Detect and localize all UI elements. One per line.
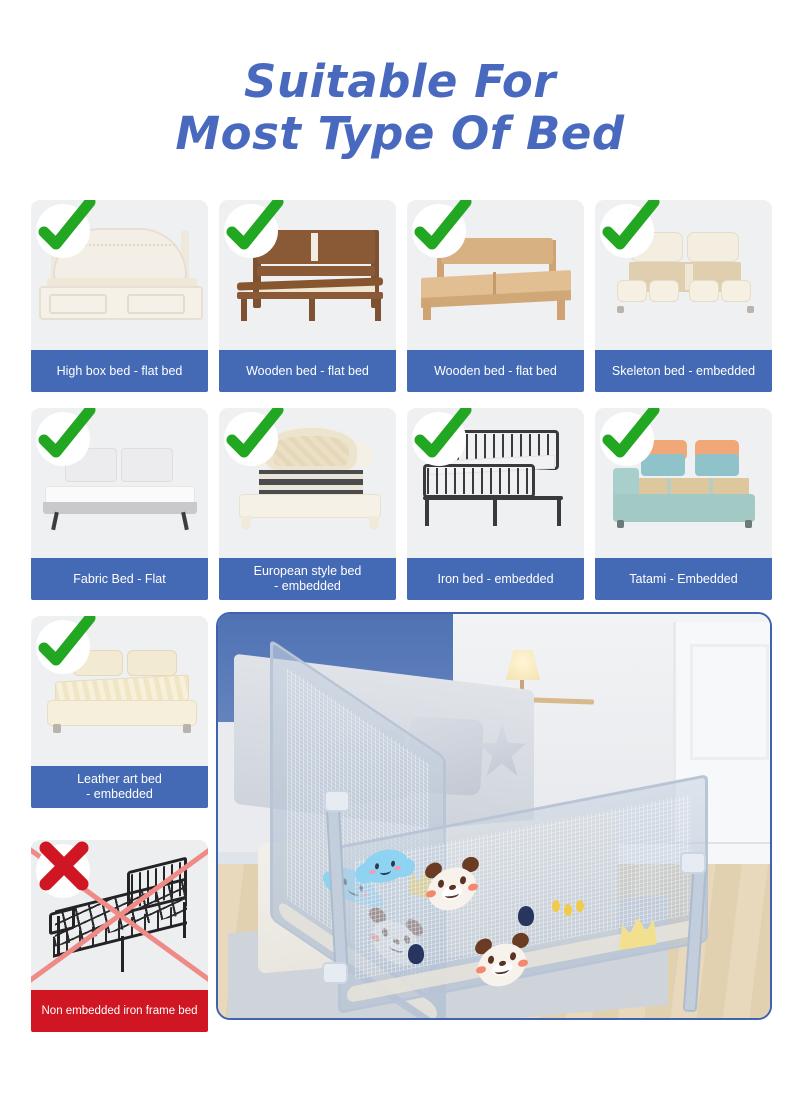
check-icon — [600, 412, 654, 466]
bed-card-fabric-bed[interactable]: Fabric Bed - Flat — [31, 408, 208, 600]
bed-image-tatami — [595, 408, 772, 558]
check-icon — [600, 204, 654, 258]
bed-image-european-style-bed — [219, 408, 396, 558]
bed-card-label: Iron bed - embedded — [407, 558, 584, 600]
bed-card-leather-art-bed[interactable]: Leather art bed - embedded — [31, 616, 208, 808]
bed-card-iron-bed[interactable]: Iron bed - embedded — [407, 408, 584, 600]
bed-card-label: Fabric Bed - Flat — [31, 558, 208, 600]
bed-card-label-line-1: Leather art bed — [77, 772, 162, 787]
bed-card-label: Wooden bed - flat bed — [407, 350, 584, 392]
bed-card-european-style-bed[interactable]: European style bed - embedded — [219, 408, 396, 600]
rail-joint — [324, 790, 350, 812]
rail-joint — [680, 852, 706, 874]
bed-card-high-box-bed[interactable]: High box bed - flat bed — [31, 200, 208, 392]
bear-face-decal — [474, 932, 530, 991]
bed-card-non-embedded-iron-frame-bed[interactable]: Non embedded iron frame bed — [31, 840, 208, 1032]
bed-card-label-line-1: European style bed — [254, 564, 362, 579]
bed-card-label-line-2: - embedded — [86, 787, 153, 802]
bed-image-high-box-bed — [31, 200, 208, 350]
title-line-1: Suitable For — [0, 56, 800, 108]
product-photo — [216, 612, 772, 1020]
bed-image-leather-art-bed — [31, 616, 208, 766]
bed-card-label: Non embedded iron frame bed — [31, 990, 208, 1032]
bed-image-wooden-bed-light — [407, 200, 584, 350]
check-icon — [36, 620, 90, 674]
bed-image-non-embedded-iron-frame-bed — [31, 840, 208, 990]
yellow-dot-decal — [552, 900, 560, 912]
bed-image-skeleton-bed — [595, 200, 772, 350]
cross-icon — [36, 844, 90, 898]
check-icon — [412, 412, 466, 466]
bed-type-row-2: Fabric Bed - Flat European style bed - e… — [31, 408, 773, 600]
bear-face-decal — [424, 856, 480, 915]
bed-card-label: Leather art bed - embedded — [31, 766, 208, 808]
check-icon — [224, 204, 278, 258]
bed-type-row-1: High box bed - flat bed Wooden bed - fla… — [31, 200, 773, 392]
check-icon — [36, 412, 90, 466]
navy-dot-decal — [518, 906, 534, 926]
yellow-dot-decal — [576, 900, 584, 912]
title-line-2: Most Type Of Bed — [0, 108, 800, 160]
infographic-page: Suitable For Most Type Of Bed High box b… — [0, 0, 800, 1096]
bed-card-skeleton-bed[interactable]: Skeleton bed - embedded — [595, 200, 772, 392]
bed-card-label: European style bed - embedded — [219, 558, 396, 600]
bed-card-label-line-2: - embedded — [274, 579, 341, 594]
bed-card-tatami[interactable]: Tatami - Embedded — [595, 408, 772, 600]
check-icon — [224, 412, 278, 466]
navy-dot-decal — [408, 944, 424, 964]
bed-card-wooden-bed-dark[interactable]: Wooden bed - flat bed — [219, 200, 396, 392]
check-icon — [412, 204, 466, 258]
bed-card-label: High box bed - flat bed — [31, 350, 208, 392]
bed-image-iron-bed — [407, 408, 584, 558]
bed-card-label: Wooden bed - flat bed — [219, 350, 396, 392]
bed-image-fabric-bed — [31, 408, 208, 558]
bed-card-wooden-bed-light[interactable]: Wooden bed - flat bed — [407, 200, 584, 392]
bed-image-wooden-bed-dark — [219, 200, 396, 350]
page-title: Suitable For Most Type Of Bed — [0, 56, 800, 160]
bed-card-label: Tatami - Embedded — [595, 558, 772, 600]
yellow-dot-decal — [564, 904, 572, 916]
rail-joint — [322, 962, 348, 984]
check-icon — [36, 204, 90, 258]
bed-card-label: Skeleton bed - embedded — [595, 350, 772, 392]
